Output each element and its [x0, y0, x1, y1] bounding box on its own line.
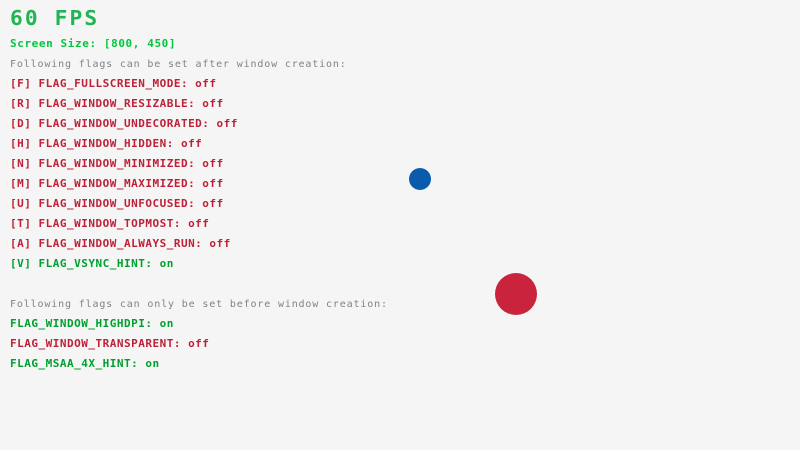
fps-counter: 60 FPS: [10, 8, 99, 28]
heading-flags-before-creation: Following flags can only be set before w…: [10, 300, 388, 310]
flag-row[interactable]: [F] FLAG_FULLSCREEN_MODE: off: [10, 78, 217, 89]
flag-row[interactable]: FLAG_MSAA_4X_HINT: on: [10, 358, 160, 369]
raylib-canvas[interactable]: 60 FPS Screen Size: [800, 450] Following…: [0, 0, 800, 450]
flag-row[interactable]: [U] FLAG_WINDOW_UNFOCUSED: off: [10, 198, 224, 209]
red-circle: [495, 273, 537, 315]
blue-circle: [409, 168, 431, 190]
flag-row[interactable]: [V] FLAG_VSYNC_HINT: on: [10, 258, 174, 269]
flag-row[interactable]: FLAG_WINDOW_TRANSPARENT: off: [10, 338, 209, 349]
flag-row[interactable]: [N] FLAG_WINDOW_MINIMIZED: off: [10, 158, 224, 169]
heading-flags-after-creation: Following flags can be set after window …: [10, 60, 347, 70]
screen-size-label: Screen Size: [800, 450]: [10, 38, 176, 49]
flag-row[interactable]: [A] FLAG_WINDOW_ALWAYS_RUN: off: [10, 238, 231, 249]
flag-row[interactable]: [R] FLAG_WINDOW_RESIZABLE: off: [10, 98, 224, 109]
flag-row[interactable]: [M] FLAG_WINDOW_MAXIMIZED: off: [10, 178, 224, 189]
flag-row[interactable]: [T] FLAG_WINDOW_TOPMOST: off: [10, 218, 209, 229]
flag-row[interactable]: [D] FLAG_WINDOW_UNDECORATED: off: [10, 118, 238, 129]
flag-row[interactable]: [H] FLAG_WINDOW_HIDDEN: off: [10, 138, 202, 149]
flag-row[interactable]: FLAG_WINDOW_HIGHDPI: on: [10, 318, 174, 329]
